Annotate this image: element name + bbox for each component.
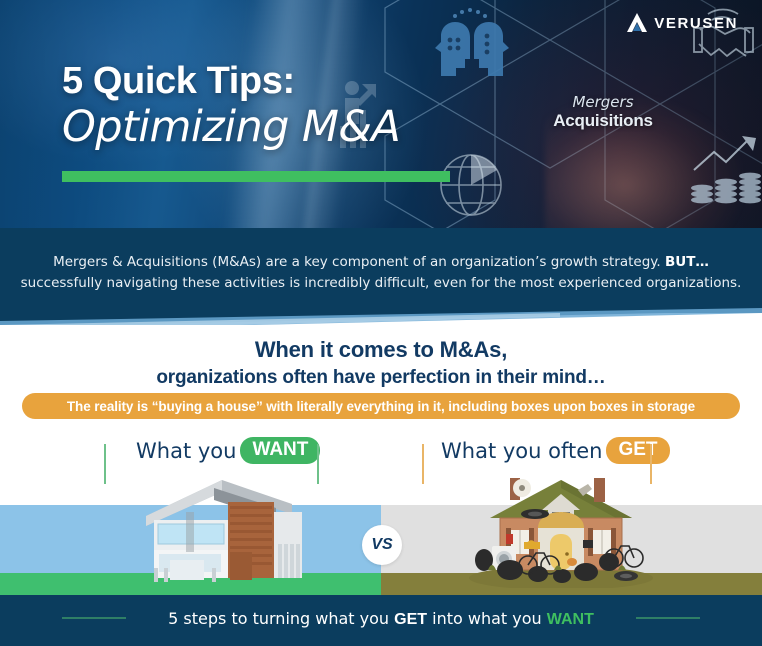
globe-highlight-wedge [471,155,497,185]
section-heading-line2: organizations often have perfection in t… [0,367,762,389]
hero-banner: 5 Quick Tips: Optimizing M&A Mergers Acq… [0,0,762,228]
versus-badge: VS [362,525,402,565]
mergers-acquisitions-label: Mergers Acquisitions [533,94,673,131]
infographic-page: 5 Quick Tips: Optimizing M&A Mergers Acq… [0,0,762,646]
section-heading-line1: When it comes to M&As, [0,337,762,363]
reality-ribbon: The reality is “buying a house” with lit… [22,393,740,419]
intro-line1-a: Mergers & Acquisitions (M&As) are a key … [53,254,665,270]
two-heads-icon [435,22,509,76]
mergers-text: Mergers [533,94,673,111]
footer-want: WANT [547,611,594,628]
page-subtitle: Optimizing M&A [62,105,400,150]
acquisitions-text: Acquisitions [533,111,673,131]
page-title: 5 Quick Tips: [62,62,295,101]
footer-get: GET [394,611,427,628]
brand-logo: VERUSEN [626,12,738,34]
footer-text: 5 steps to turning what you GET into wha… [0,609,762,629]
footer-text-b: into what you [427,609,547,628]
intro-band: Mergers & Acquisitions (M&As) are a key … [0,228,762,313]
coins-chart-icon [691,136,761,203]
cluttered-house-illustration [466,466,656,588]
modern-house-illustration [126,468,310,588]
title-accent-bar [62,171,450,182]
intro-paragraph: Mergers & Acquisitions (M&As) are a key … [0,252,762,294]
footer-band: 5 steps to turning what you GET into wha… [0,595,762,646]
footer-text-a: 5 steps to turning what you [168,609,394,628]
verusen-chevron-logo-icon [626,12,648,34]
intro-line2: successfully navigating these activities… [21,275,742,291]
intro-but: BUT… [665,254,709,270]
logo-text: VERUSEN [654,15,738,32]
